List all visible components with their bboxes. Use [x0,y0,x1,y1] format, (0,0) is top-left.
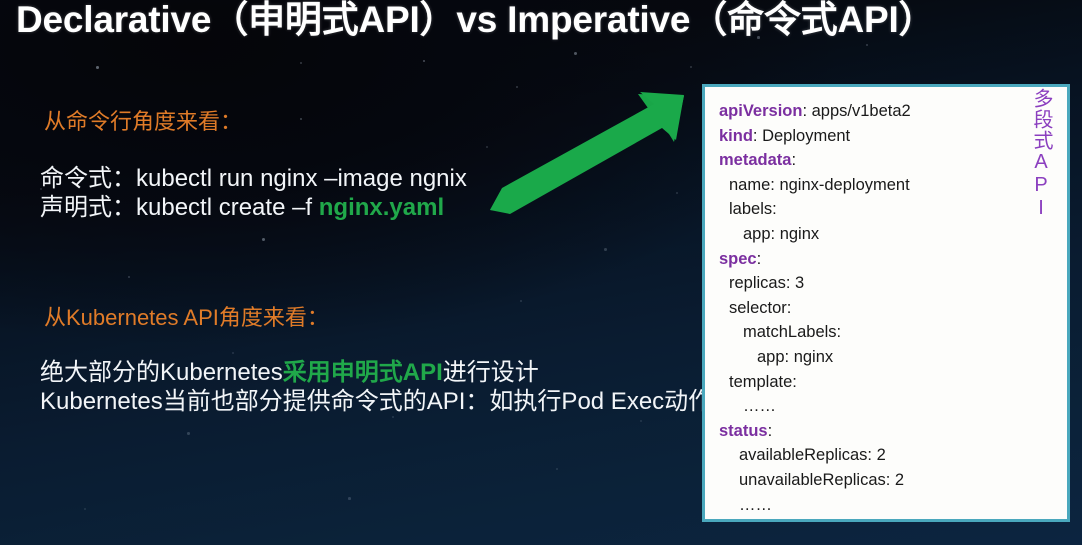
yaml-line: labels: [719,197,1057,222]
yaml-key: kind [719,127,753,145]
yaml-value: replicas: 3 [729,274,804,292]
yaml-line: app: nginx [719,345,1057,370]
heading-command-line-perspective: 从命令行角度来看： [44,104,242,136]
yaml-line: kind: Deployment [719,124,1057,149]
yaml-value: : apps/v1beta2 [802,102,910,120]
declarative-command-prefix: 声明式：kubectl create –f [40,194,319,221]
api-imperative-line: Kubernetes当前也部分提供命令式的API：如执行Pod Exec动作 [40,381,712,416]
yaml-value: …… [743,397,776,415]
yaml-line: status: [719,419,1057,444]
yaml-line: unavailableReplicas: 2 [719,468,1057,493]
declarative-file-highlight: nginx.yaml [319,194,444,221]
heading-kubernetes-api-perspective: 从Kubernetes API角度来看： [44,300,329,332]
yaml-value: template: [729,373,797,391]
yaml-key: apiVersion [719,102,802,120]
yaml-line: app: nginx [719,222,1057,247]
yaml-line: replicas: 3 [719,271,1057,296]
yaml-line: selector: [719,296,1057,321]
yaml-line: matchLabels: [719,320,1057,345]
slide-title: Declarative（申明式API）vs Imperative（命令式API） [16,0,1082,44]
yaml-value: : [757,250,762,268]
yaml-line: …… [719,493,1057,518]
yaml-value: …… [739,496,772,514]
yaml-key: metadata [719,151,791,169]
yaml-line: metadata: [719,148,1057,173]
yaml-value: unavailableReplicas: 2 [739,471,904,489]
yaml-example-panel: apiVersion: apps/v1beta2 kind: Deploymen… [702,84,1070,522]
yaml-line: apiVersion: apps/v1beta2 [719,99,1057,124]
yaml-value: matchLabels: [743,323,841,341]
yaml-line: spec: [719,247,1057,272]
yaml-key: spec [719,250,757,268]
yaml-value: labels: [729,200,777,218]
green-arrow-icon [488,88,688,218]
yaml-line: availableReplicas: 2 [719,443,1057,468]
yaml-line: template: [719,370,1057,395]
yaml-value: app: nginx [743,225,819,243]
yaml-value: name: nginx-deployment [729,176,910,194]
yaml-value: : [768,422,773,440]
yaml-value: selector: [729,299,791,317]
yaml-line: name: nginx-deployment [719,173,1057,198]
yaml-value: app: nginx [757,348,833,366]
yaml-value: availableReplicas: 2 [739,446,886,464]
yaml-value: : Deployment [753,127,850,145]
declarative-command-line: 声明式：kubectl create –f nginx.yaml [40,187,444,222]
yaml-value: : [791,151,796,169]
vertical-label-multi-stage-api: 多段式API [1026,88,1056,220]
yaml-key: status [719,422,768,440]
yaml-line: …… [719,394,1057,419]
